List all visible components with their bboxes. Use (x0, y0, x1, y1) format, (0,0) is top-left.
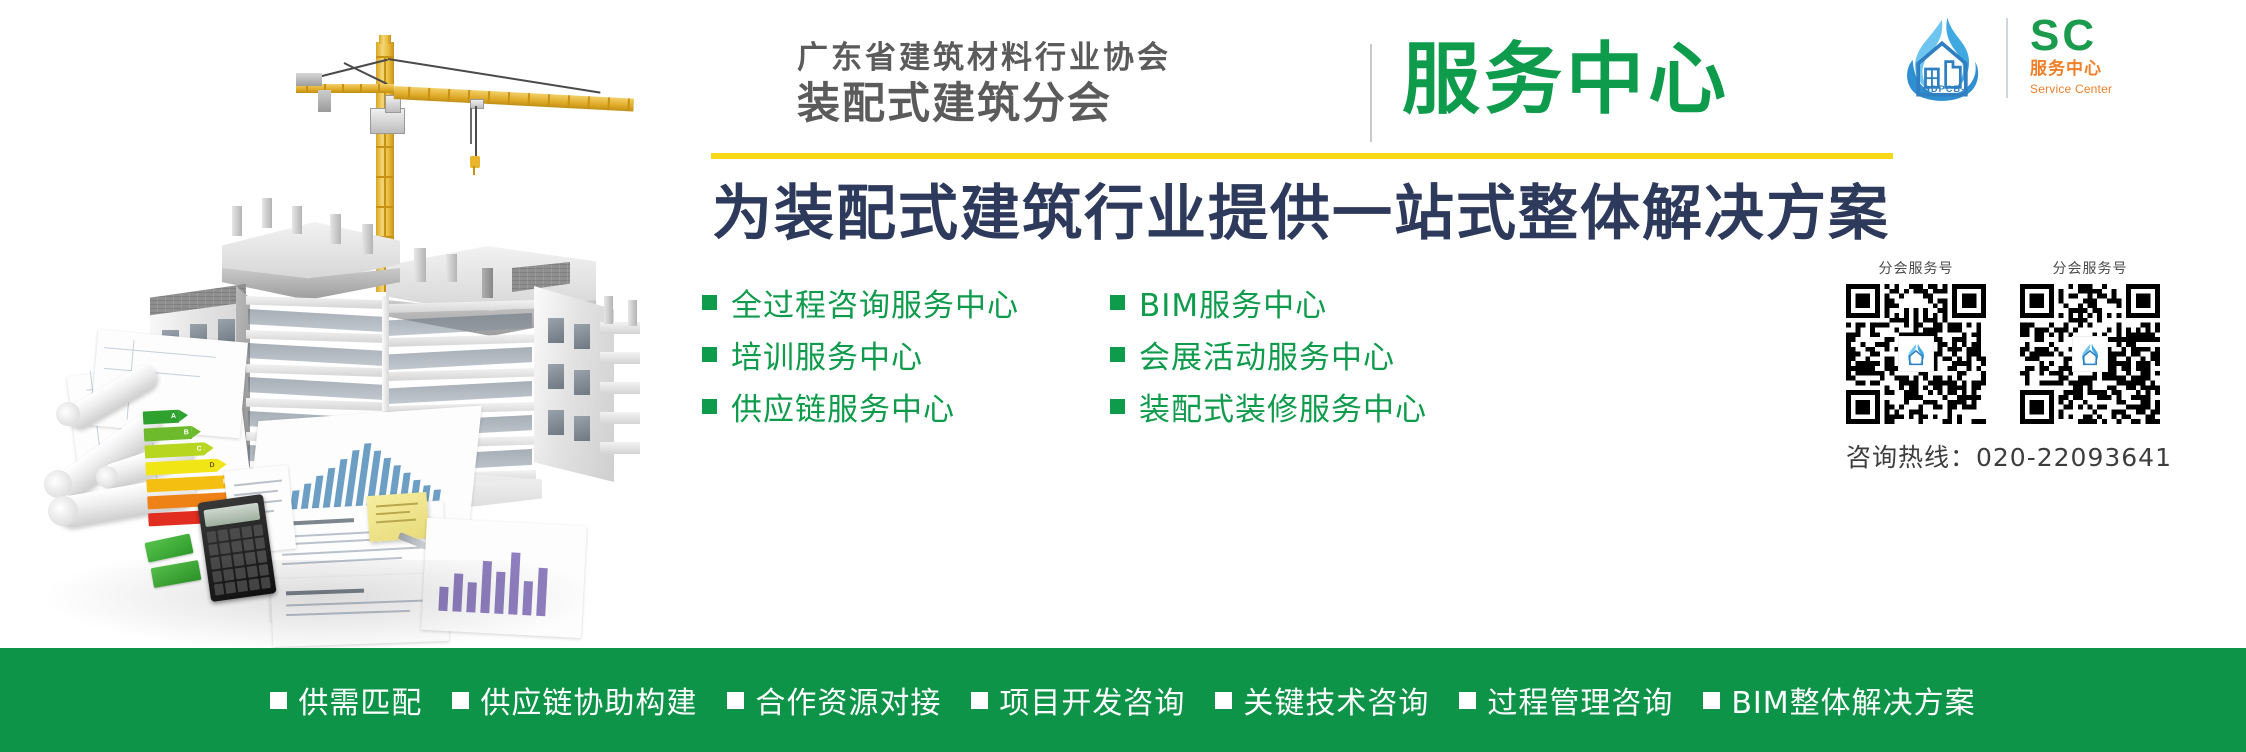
footer-item[interactable]: BIM整体解决方案 (1703, 678, 1975, 722)
association-name-bottom: 装配式建筑分会 (797, 78, 1357, 130)
service-item-label: 全过程咨询服务中心 (731, 280, 1019, 325)
square-bullet-icon (1110, 347, 1125, 362)
sticky-note (366, 492, 429, 542)
qr-row: 分会服务号 分会服务号 (1846, 258, 2228, 424)
organization-logo: -GDPCB- SC 服务中心 Service Center (1896, 12, 2196, 104)
footer-item[interactable]: 供应链协助构建 (452, 678, 697, 722)
logo-mark-caption: -GDPCB- (1896, 84, 1988, 94)
qr-item: 分会服务号 (1846, 258, 1986, 424)
square-bullet-icon (727, 692, 744, 709)
footer-item-label: 供应链协助构建 (480, 678, 697, 722)
footer-items: 供需匹配 供应链协助构建 合作资源对接 项目开发咨询 关键技术咨询 过程管理咨询 (270, 678, 1975, 722)
footer-item[interactable]: 供需匹配 (270, 678, 422, 722)
footer-item[interactable]: 关键技术咨询 (1215, 678, 1429, 722)
square-bullet-icon (1703, 692, 1720, 709)
qr-caption: 分会服务号 (2020, 258, 2160, 278)
footer-item-label: 过程管理咨询 (1487, 678, 1673, 722)
qr-contact-block: 分会服务号 分会服务号 (1846, 258, 2228, 474)
square-bullet-icon (452, 692, 469, 709)
square-bullet-icon (702, 399, 717, 414)
footer-item[interactable]: 过程管理咨询 (1459, 678, 1673, 722)
construction-site-photo: A B C D E F G (0, 0, 640, 648)
service-item[interactable]: 会展活动服务中心 (1110, 328, 1427, 380)
association-name: 广东省建筑材料行业协会 装配式建筑分会 (797, 38, 1357, 130)
footer-item-label: 关键技术咨询 (1243, 678, 1429, 722)
hotline-text: 咨询热线：020-22093641 (1846, 438, 2228, 474)
footer-item-label: BIM整体解决方案 (1731, 678, 1975, 722)
service-item-label: 装配式装修服务中心 (1139, 384, 1427, 429)
square-bullet-icon (270, 692, 287, 709)
service-item-label: 培训服务中心 (731, 332, 923, 377)
qr-code-image[interactable] (1846, 284, 1986, 424)
page-headline: 为装配式建筑行业提供一站式整体解决方案 (712, 176, 1890, 252)
square-bullet-icon (1110, 295, 1125, 310)
footer-item[interactable]: 合作资源对接 (727, 678, 941, 722)
service-item[interactable]: 供应链服务中心 (702, 380, 1019, 432)
house-flame-icon (2072, 336, 2108, 372)
gold-divider-rule (711, 153, 1893, 159)
association-name-top: 广东省建筑材料行业协会 (797, 38, 1357, 78)
square-bullet-icon (1215, 692, 1232, 709)
service-list-right-column: BIM服务中心 会展活动服务中心 装配式装修服务中心 (1110, 276, 1427, 432)
logo-name-cn: 服务中心 (2030, 60, 2102, 79)
service-item-label: 会展活动服务中心 (1139, 332, 1395, 377)
service-item[interactable]: BIM服务中心 (1110, 276, 1427, 328)
service-center-banner: A B C D E F G (0, 0, 2246, 752)
footer-item-label: 合作资源对接 (755, 678, 941, 722)
qr-code-image[interactable] (2020, 284, 2160, 424)
square-bullet-icon (702, 347, 717, 362)
square-bullet-icon (1459, 692, 1476, 709)
footer-item-label: 供需匹配 (298, 678, 422, 722)
logo-name-en: Service Center (2030, 82, 2112, 96)
footer-item-label: 项目开发咨询 (999, 678, 1185, 722)
service-list-left-column: 全过程咨询服务中心 培训服务中心 供应链服务中心 (702, 276, 1019, 432)
header-divider (1370, 44, 1372, 142)
house-flame-icon (1898, 336, 1934, 372)
logo-divider (2006, 18, 2008, 98)
square-bullet-icon (971, 692, 988, 709)
footer-item[interactable]: 项目开发咨询 (971, 678, 1185, 722)
qr-item: 分会服务号 (2020, 258, 2160, 424)
content-panel: 广东省建筑材料行业协会 装配式建筑分会 服务中心 为装配式建筑行业提供一站式整体… (640, 0, 2246, 648)
square-bullet-icon (702, 295, 717, 310)
footer-bar: 供需匹配 供应链协助构建 合作资源对接 项目开发咨询 关键技术咨询 过程管理咨询 (0, 648, 2246, 752)
service-item[interactable]: 培训服务中心 (702, 328, 1019, 380)
service-item[interactable]: 全过程咨询服务中心 (702, 276, 1019, 328)
qr-caption: 分会服务号 (1846, 258, 1986, 278)
service-center-title: 服务中心 (1402, 30, 1730, 130)
logo-initials: SC (2030, 14, 2097, 58)
service-item-label: BIM服务中心 (1139, 280, 1327, 325)
service-item[interactable]: 装配式装修服务中心 (1110, 380, 1427, 432)
square-bullet-icon (1110, 399, 1125, 414)
service-item-label: 供应链服务中心 (731, 384, 955, 429)
